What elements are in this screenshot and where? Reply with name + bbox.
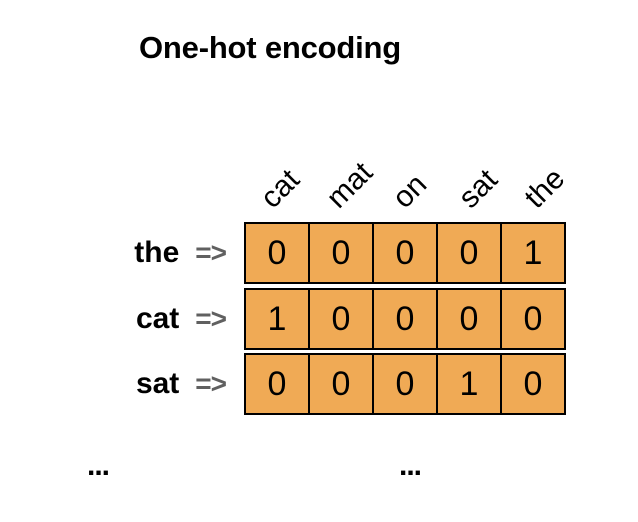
matrix-row: 0 0 0 1 0	[244, 353, 576, 415]
column-header-label: sat	[454, 164, 504, 214]
matrix-cell: 1	[500, 222, 566, 284]
row-label-word: cat	[136, 302, 179, 336]
matrix-cell: 0	[244, 222, 310, 284]
row-label-word: sat	[136, 367, 179, 401]
column-header-on: on	[376, 120, 442, 216]
matrix-cell: 0	[308, 222, 374, 284]
maps-to-arrow-icon: =>	[195, 303, 226, 335]
maps-to-arrow-icon: =>	[195, 368, 226, 400]
matrix-cell: 0	[500, 288, 566, 350]
one-hot-encoding-figure: One-hot encoding cat mat on sat the the …	[0, 0, 638, 522]
one-hot-matrix: 0 0 0 0 1 1 0 0 0 0 0 0 0 1 0	[244, 222, 576, 415]
row-label-cat: cat =>	[0, 288, 240, 350]
matrix-row: 1 0 0 0 0	[244, 288, 576, 350]
row-label-the: the =>	[0, 222, 240, 284]
matrix-cell: 0	[500, 353, 566, 415]
column-header-label: mat	[322, 157, 379, 214]
matrix-continuation-ellipsis: ...	[399, 451, 421, 481]
column-header-mat: mat	[310, 120, 376, 216]
matrix-cell: 1	[244, 288, 310, 350]
figure-title: One-hot encoding	[0, 30, 540, 66]
row-label-sat: sat =>	[0, 353, 240, 415]
matrix-cell: 0	[308, 353, 374, 415]
column-header-label: on	[388, 169, 433, 214]
matrix-cell: 0	[372, 353, 438, 415]
matrix-cell: 0	[372, 288, 438, 350]
matrix-cell: 1	[436, 353, 502, 415]
maps-to-arrow-icon: =>	[195, 237, 226, 269]
column-header-label: the	[520, 163, 571, 214]
matrix-cell: 0	[308, 288, 374, 350]
matrix-cell: 0	[436, 288, 502, 350]
column-header-label: cat	[256, 164, 306, 214]
matrix-cell: 0	[244, 353, 310, 415]
row-continuation-ellipsis: ...	[87, 451, 109, 481]
matrix-cell: 0	[436, 222, 502, 284]
row-label-column: the => cat => sat =>	[0, 222, 240, 415]
row-label-word: the	[134, 236, 179, 270]
column-header-cat: cat	[244, 120, 310, 216]
matrix-row: 0 0 0 0 1	[244, 222, 576, 284]
column-header-row: cat mat on sat the	[244, 120, 576, 216]
matrix-cell: 0	[372, 222, 438, 284]
column-header-the: the	[508, 120, 574, 216]
column-header-sat: sat	[442, 120, 508, 216]
